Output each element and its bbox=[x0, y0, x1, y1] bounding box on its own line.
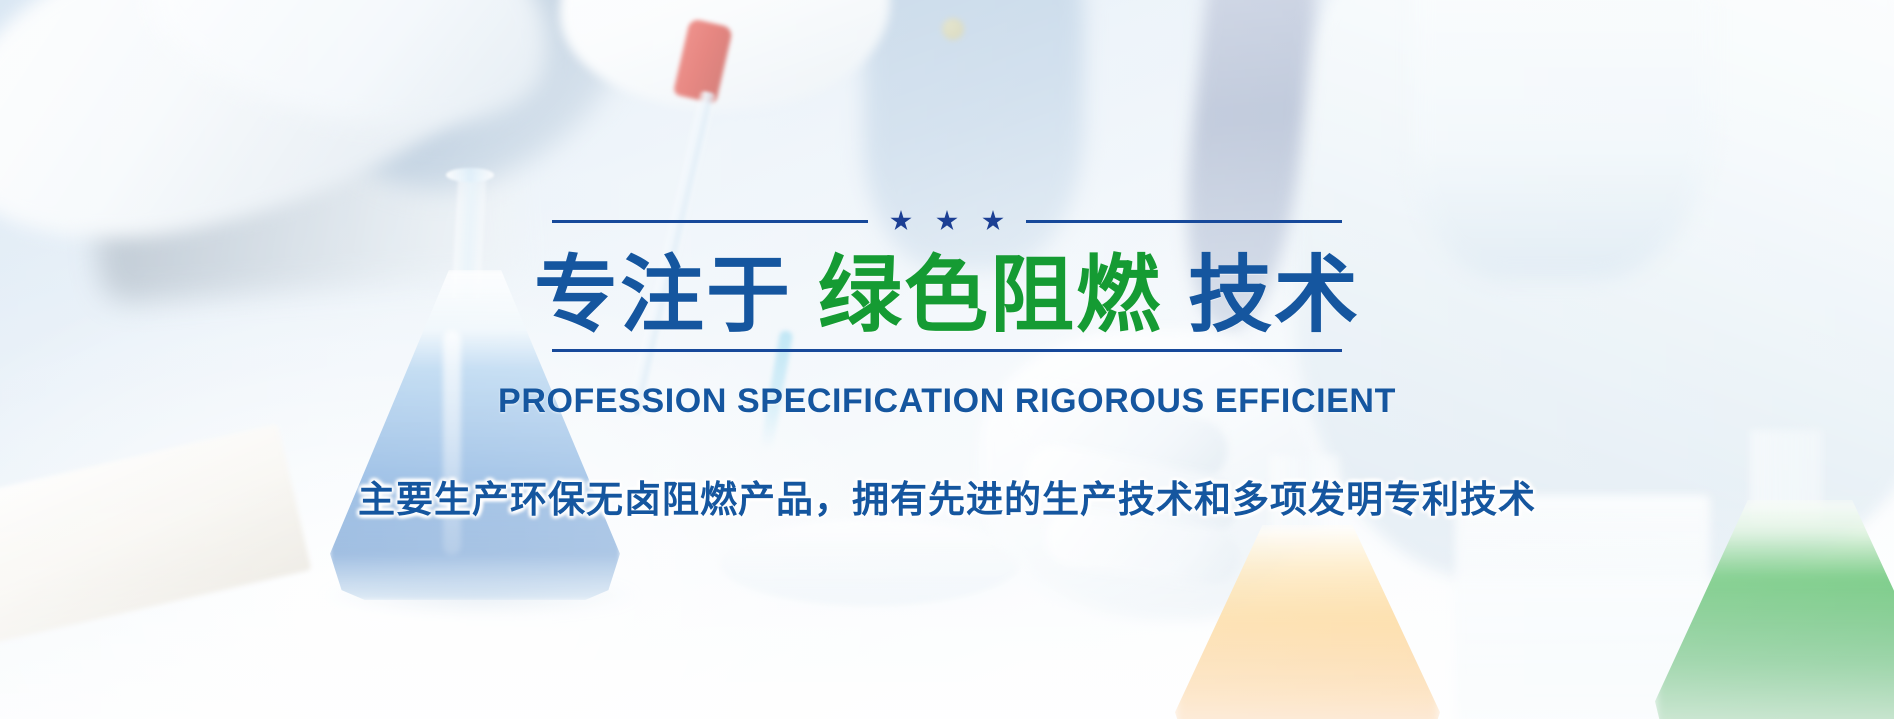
divider-line-right bbox=[1026, 220, 1342, 223]
headline-underline bbox=[552, 349, 1342, 352]
hero-banner: 专注于绿色阻燃技术 PROFESSION SPECIFICATION RIGOR… bbox=[0, 0, 1894, 719]
star-group bbox=[868, 210, 1026, 232]
star-divider bbox=[552, 210, 1342, 232]
star-icon bbox=[936, 210, 958, 232]
star-icon bbox=[890, 210, 912, 232]
banner-content: 专注于绿色阻燃技术 PROFESSION SPECIFICATION RIGOR… bbox=[0, 0, 1894, 719]
headline-part-3: 技术 bbox=[1188, 246, 1360, 344]
divider-line-left bbox=[552, 220, 868, 223]
headline-part-2: 绿色阻燃 bbox=[818, 246, 1162, 344]
banner-subtitle-english: PROFESSION SPECIFICATION RIGOROUS EFFICI… bbox=[498, 382, 1396, 421]
banner-tagline-chinese: 主要生产环保无卤阻燃产品，拥有先进的生产技术和多项发明专利技术 bbox=[358, 469, 1536, 523]
headline-part-1: 专注于 bbox=[534, 246, 792, 344]
star-icon bbox=[982, 210, 1004, 232]
banner-headline: 专注于绿色阻燃技术 bbox=[534, 252, 1360, 339]
